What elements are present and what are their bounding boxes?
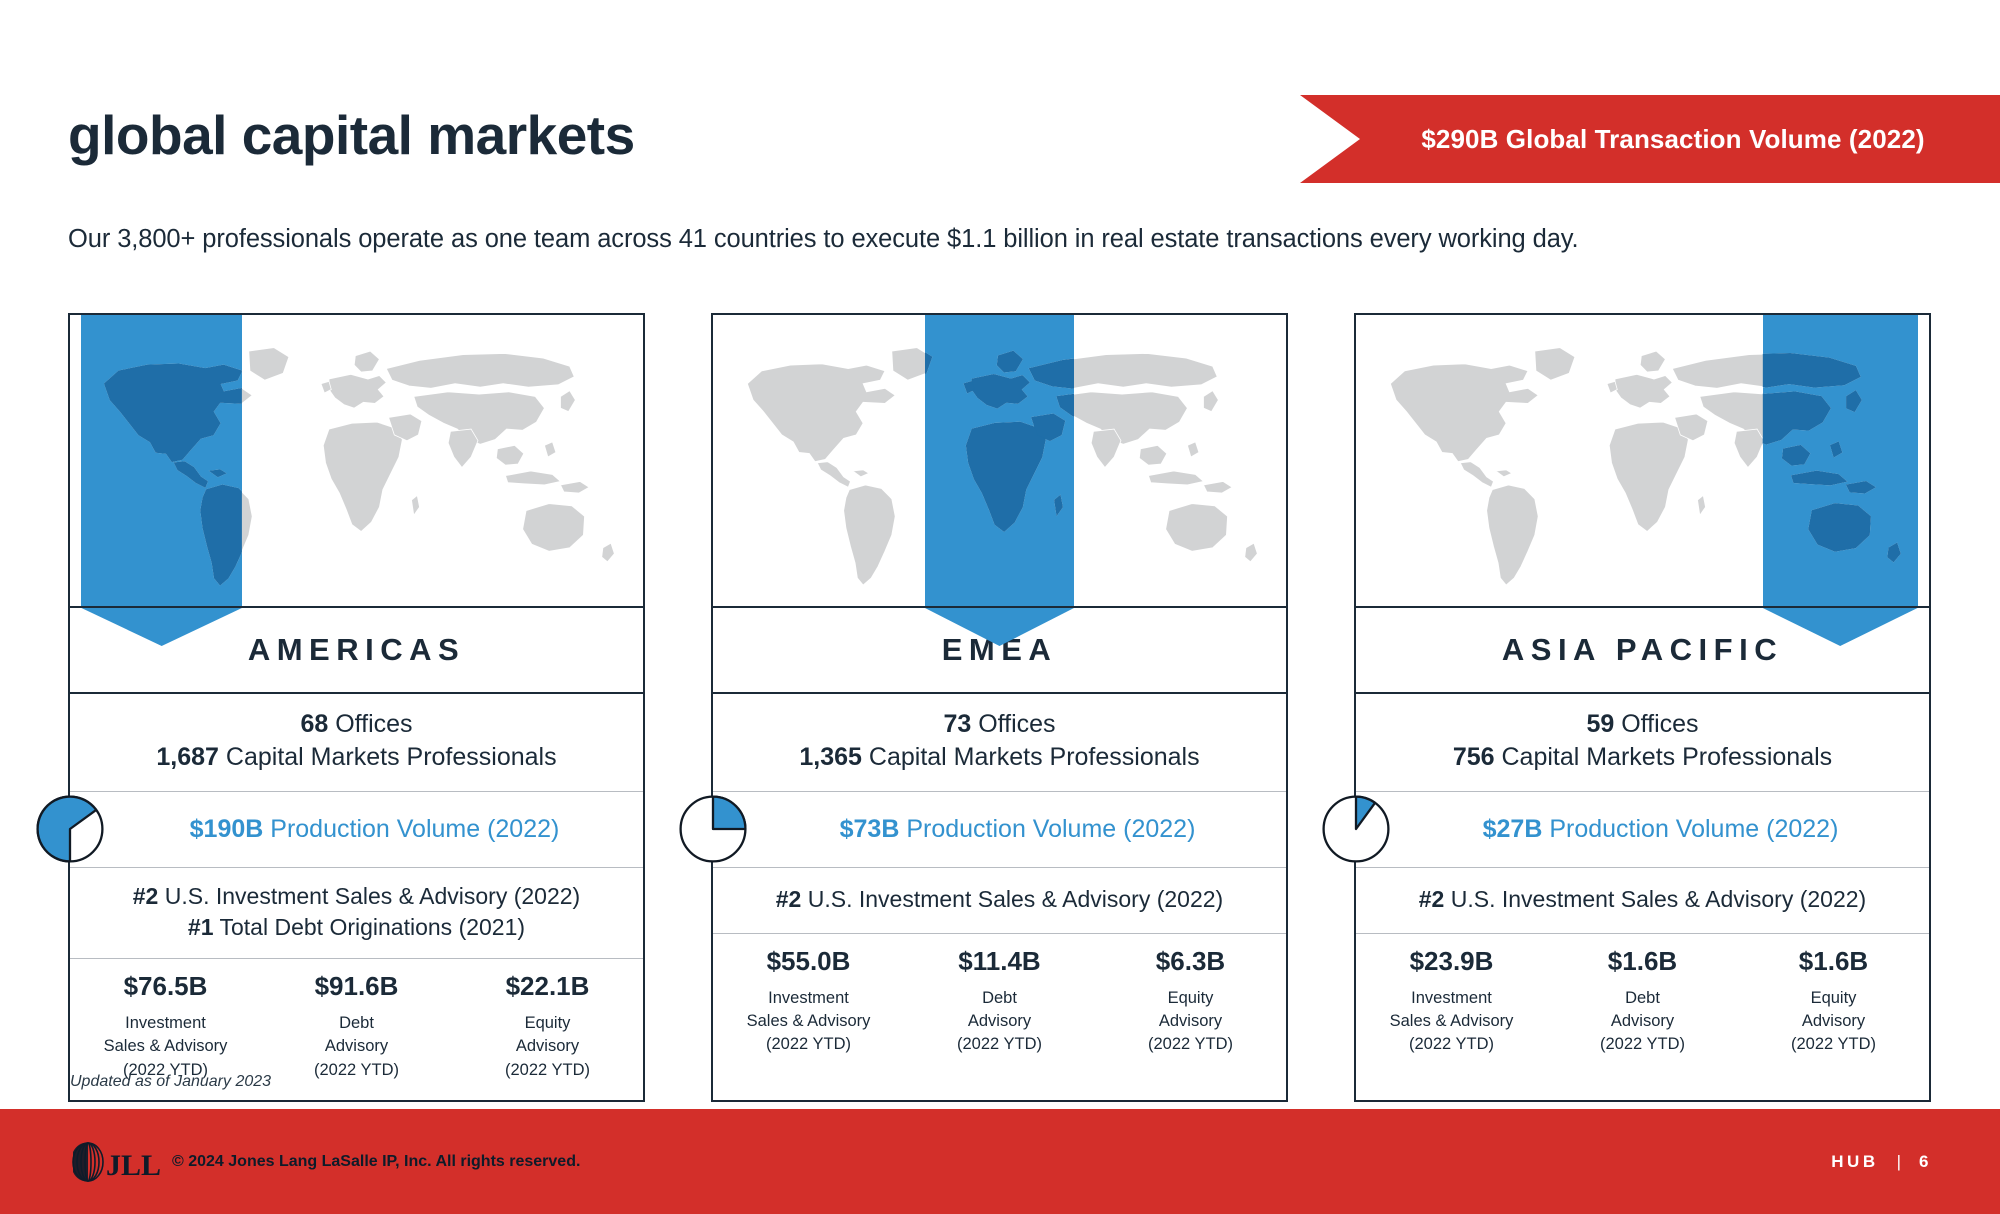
stat-label-line2: Advisory [1095, 1010, 1286, 1033]
stat-value: $22.1B [452, 971, 643, 1002]
offices-count: 59 [1586, 710, 1614, 738]
world-map-icon [713, 315, 1286, 606]
stat-value: $6.3B [1095, 946, 1286, 977]
ranking-text: U.S. Investment Sales & Advisory (2022) [1451, 886, 1866, 912]
stat-label-line3: (2022 YTD) [1547, 1033, 1738, 1056]
stat-label: DebtAdvisory(2022 YTD) [904, 987, 1095, 1057]
banner-label: $290B Global Transaction Volume (2022) [1375, 124, 1924, 155]
production-volume-label: Production Volume (2022) [1549, 815, 1838, 843]
production-volume-row: $73B Production Volume (2022) [713, 792, 1286, 868]
page-number: 6 [1919, 1152, 1932, 1172]
region-counts: 73 Offices 1,365 Capital Markets Profess… [713, 694, 1286, 792]
stat-value: $76.5B [70, 971, 261, 1002]
stat-block: $55.0BInvestmentSales & Advisory(2022 YT… [713, 946, 904, 1057]
page-footer: JLL © 2024 Jones Lang LaSalle IP, Inc. A… [0, 1109, 2000, 1214]
stat-label-line1: Equity [452, 1012, 643, 1035]
stat-label-line1: Debt [261, 1012, 452, 1035]
stat-label-line2: Advisory [1547, 1010, 1738, 1033]
region-rankings: #2 U.S. Investment Sales & Advisory (202… [70, 868, 643, 959]
region-card: AMERICAS 68 Offices 1,687 Capital Market… [68, 313, 645, 1102]
stat-label-line3: (2022 YTD) [261, 1059, 452, 1082]
production-volume-row: $27B Production Volume (2022) [1356, 792, 1929, 868]
offices-label: Offices [1621, 710, 1698, 738]
professionals-count: 1,365 [799, 743, 862, 771]
professionals-label: Capital Markets Professionals [226, 743, 557, 771]
ranking-rank: #2 [133, 883, 159, 909]
offices-label: Offices [335, 710, 412, 738]
ranking-rank: #1 [188, 914, 214, 940]
professionals-line: 756 Capital Markets Professionals [1364, 741, 1921, 774]
slide-page: global capital markets $290B Global Tran… [0, 0, 2000, 1214]
ranking-line: #2 U.S. Investment Sales & Advisory (202… [721, 884, 1278, 916]
region-rankings: #2 U.S. Investment Sales & Advisory (202… [713, 868, 1286, 934]
region-card: EMEA 73 Offices 1,365 Capital Markets Pr… [711, 313, 1288, 1102]
stat-label-line3: (2022 YTD) [1738, 1033, 1929, 1056]
region-stats: $23.9BInvestmentSales & Advisory(2022 YT… [1356, 934, 1929, 1075]
production-volume-text: $27B Production Volume (2022) [1447, 815, 1839, 844]
stat-label: EquityAdvisory(2022 YTD) [452, 1012, 643, 1082]
stat-label-line2: Sales & Advisory [70, 1035, 261, 1058]
map-clip [713, 315, 1286, 606]
production-volume-value: $73B [840, 815, 900, 843]
pie-chart-icon [34, 793, 106, 865]
stat-value: $11.4B [904, 946, 1095, 977]
stat-label-line1: Investment [1356, 987, 1547, 1010]
professionals-line: 1,365 Capital Markets Professionals [721, 741, 1278, 774]
world-map-icon [1356, 315, 1929, 606]
pie-chart-icon [677, 793, 749, 865]
stat-label-line3: (2022 YTD) [904, 1033, 1095, 1056]
region-map [70, 315, 643, 608]
stat-label-line1: Debt [904, 987, 1095, 1010]
stat-label-line3: (2022 YTD) [1356, 1033, 1547, 1056]
stat-value: $1.6B [1547, 946, 1738, 977]
stat-label-line2: Advisory [1738, 1010, 1929, 1033]
offices-count: 68 [300, 710, 328, 738]
production-volume-text: $190B Production Volume (2022) [154, 815, 560, 844]
professionals-label: Capital Markets Professionals [1501, 743, 1832, 771]
professionals-label: Capital Markets Professionals [869, 743, 1200, 771]
stat-label-line3: (2022 YTD) [713, 1033, 904, 1056]
updated-note: Updated as of January 2023 [70, 1073, 271, 1091]
professionals-count: 1,687 [156, 743, 219, 771]
offices-label: Offices [978, 710, 1055, 738]
production-volume-text: $73B Production Volume (2022) [804, 815, 1196, 844]
stat-block: $23.9BInvestmentSales & Advisory(2022 YT… [1356, 946, 1547, 1057]
jll-logo: JLL [70, 1140, 162, 1184]
region-rankings: #2 U.S. Investment Sales & Advisory (202… [1356, 868, 1929, 934]
stat-value: $23.9B [1356, 946, 1547, 977]
ranking-rank: #2 [1419, 886, 1445, 912]
stat-block: $76.5BInvestmentSales & Advisory(2022 YT… [70, 971, 261, 1082]
region-name: AMERICAS [248, 632, 465, 668]
stat-value: $91.6B [261, 971, 452, 1002]
stat-label-line2: Advisory [904, 1010, 1095, 1033]
stat-label: InvestmentSales & Advisory(2022 YTD) [70, 1012, 261, 1082]
stat-block: $11.4BDebtAdvisory(2022 YTD) [904, 946, 1095, 1057]
stat-block: $1.6BEquityAdvisory(2022 YTD) [1738, 946, 1929, 1057]
stat-label-line2: Sales & Advisory [1356, 1010, 1547, 1033]
professionals-line: 1,687 Capital Markets Professionals [78, 741, 635, 774]
stat-label-line3: (2022 YTD) [452, 1059, 643, 1082]
region-map [713, 315, 1286, 608]
ranking-text: U.S. Investment Sales & Advisory (2022) [808, 886, 1223, 912]
footer-separator: | [1897, 1152, 1901, 1172]
page-title: global capital markets [68, 108, 635, 163]
production-volume-label: Production Volume (2022) [906, 815, 1195, 843]
ranking-line: #2 U.S. Investment Sales & Advisory (202… [1364, 884, 1921, 916]
ranking-text: Total Debt Originations (2021) [220, 914, 526, 940]
stat-value: $55.0B [713, 946, 904, 977]
svg-text:JLL: JLL [106, 1149, 161, 1182]
page-subtitle: Our 3,800+ professionals operate as one … [68, 225, 1579, 254]
production-volume-value: $27B [1483, 815, 1543, 843]
stat-block: $6.3BEquityAdvisory(2022 YTD) [1095, 946, 1286, 1057]
stat-label: DebtAdvisory(2022 YTD) [1547, 987, 1738, 1057]
region-name: ASIA PACIFIC [1502, 632, 1783, 668]
footer-right: HUB | 6 [1831, 1152, 1932, 1172]
stat-value: $1.6B [1738, 946, 1929, 977]
copyright-text: © 2024 Jones Lang LaSalle IP, Inc. All r… [172, 1153, 580, 1171]
production-volume-row: $190B Production Volume (2022) [70, 792, 643, 868]
region-stats: $55.0BInvestmentSales & Advisory(2022 YT… [713, 934, 1286, 1075]
stat-block: $22.1BEquityAdvisory(2022 YTD) [452, 971, 643, 1082]
stat-label-line1: Debt [1547, 987, 1738, 1010]
offices-line: 59 Offices [1364, 708, 1921, 741]
stat-label-line2: Advisory [261, 1035, 452, 1058]
pie-chart-icon [1320, 793, 1392, 865]
stat-label-line1: Investment [713, 987, 904, 1010]
offices-count: 73 [943, 710, 971, 738]
stat-block: $1.6BDebtAdvisory(2022 YTD) [1547, 946, 1738, 1057]
ranking-line: #1 Total Debt Originations (2021) [78, 912, 635, 944]
world-map-icon [70, 315, 643, 606]
map-clip [1356, 315, 1929, 606]
stat-block: $91.6BDebtAdvisory(2022 YTD) [261, 971, 452, 1082]
stat-label: InvestmentSales & Advisory(2022 YTD) [713, 987, 904, 1057]
stat-label-line1: Equity [1738, 987, 1929, 1010]
stat-label-line1: Investment [70, 1012, 261, 1035]
stat-label: EquityAdvisory(2022 YTD) [1738, 987, 1929, 1057]
region-card: ASIA PACIFIC 59 Offices 756 Capital Mark… [1354, 313, 1931, 1102]
stat-label-line1: Equity [1095, 987, 1286, 1010]
ranking-line: #2 U.S. Investment Sales & Advisory (202… [78, 881, 635, 913]
region-counts: 59 Offices 756 Capital Markets Professio… [1356, 694, 1929, 792]
offices-line: 68 Offices [78, 708, 635, 741]
region-map [1356, 315, 1929, 608]
map-clip [70, 315, 643, 606]
production-volume-value: $190B [190, 815, 264, 843]
stat-label-line3: (2022 YTD) [1095, 1033, 1286, 1056]
stat-label-line2: Sales & Advisory [713, 1010, 904, 1033]
stat-label: EquityAdvisory(2022 YTD) [1095, 987, 1286, 1057]
stat-label-line2: Advisory [452, 1035, 643, 1058]
professionals-count: 756 [1453, 743, 1495, 771]
ranking-rank: #2 [776, 886, 802, 912]
stat-label: DebtAdvisory(2022 YTD) [261, 1012, 452, 1082]
offices-line: 73 Offices [721, 708, 1278, 741]
stat-label: InvestmentSales & Advisory(2022 YTD) [1356, 987, 1547, 1057]
production-volume-label: Production Volume (2022) [270, 815, 559, 843]
region-counts: 68 Offices 1,687 Capital Markets Profess… [70, 694, 643, 792]
ranking-text: U.S. Investment Sales & Advisory (2022) [165, 883, 580, 909]
global-transaction-banner: $290B Global Transaction Volume (2022) [1300, 95, 2000, 183]
region-cards-container: AMERICAS 68 Offices 1,687 Capital Market… [68, 313, 1932, 1102]
jll-logo-icon: JLL [70, 1140, 162, 1184]
hub-label: HUB [1831, 1152, 1878, 1172]
